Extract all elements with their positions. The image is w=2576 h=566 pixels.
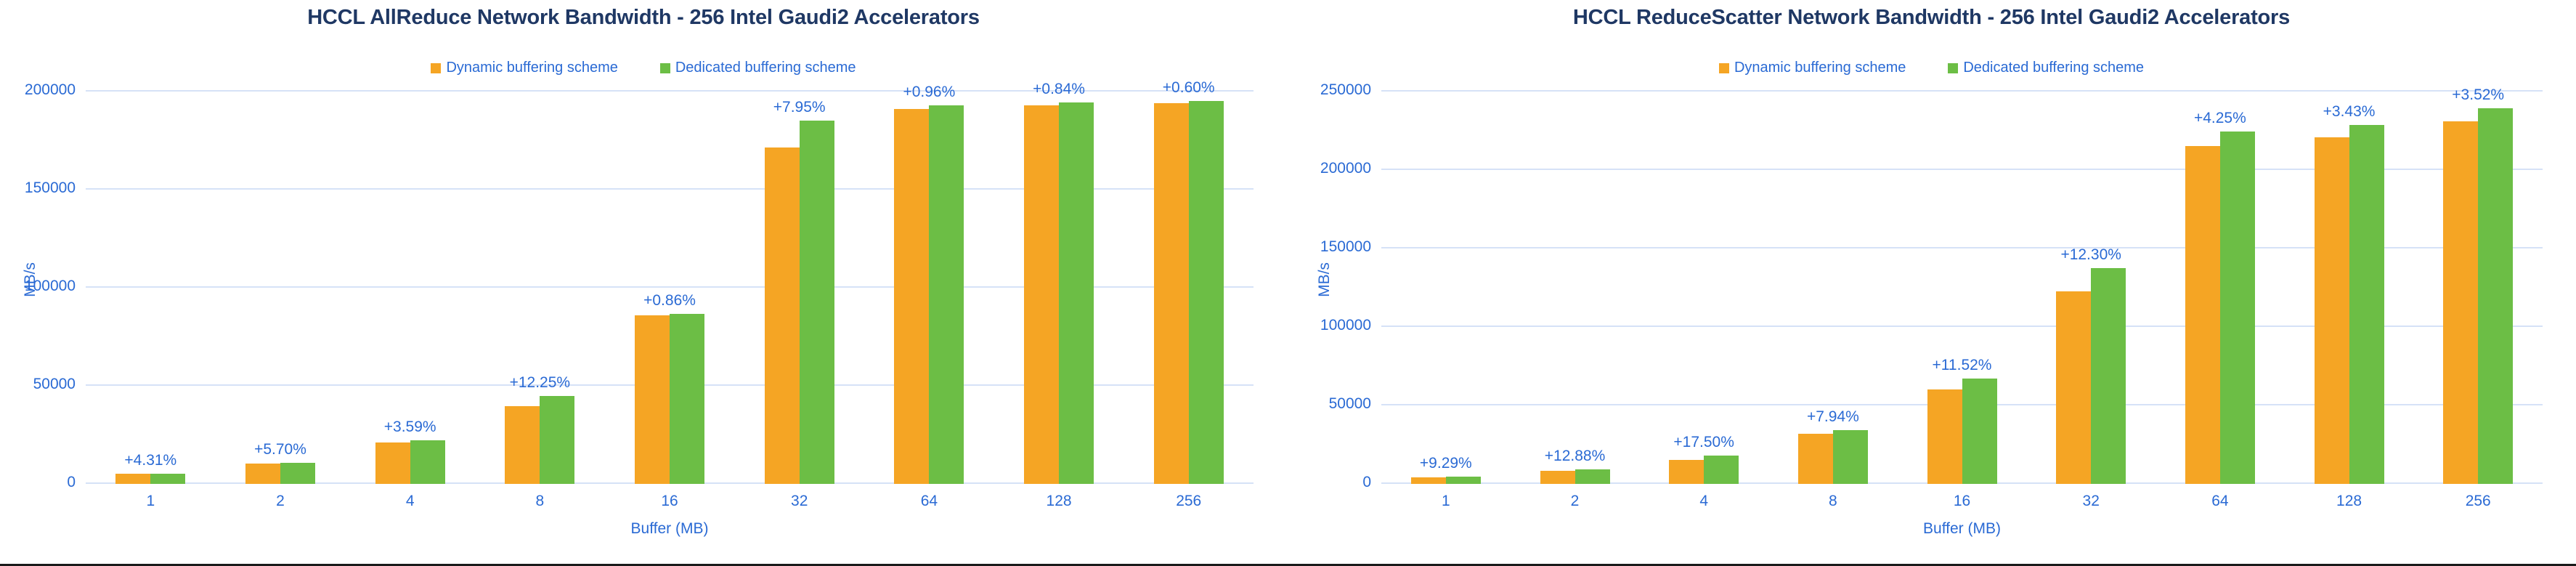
- square-marker-icon: [1948, 63, 1958, 73]
- y-axis-tick-label: 0: [1362, 474, 1371, 491]
- bar-groups-reducescatter: +9.29%+12.88%+17.50%+7.94%+11.52%+12.30%…: [1381, 92, 2543, 484]
- bar-dedicated-buffering[interactable]: [1446, 477, 1481, 484]
- bar-group: +5.70%: [216, 92, 346, 484]
- bar-dynamic-buffering[interactable]: [1540, 471, 1575, 484]
- bar-percentage-label: +12.25%: [510, 374, 571, 392]
- bar-group: +0.96%: [864, 92, 994, 484]
- bar-pair: [2285, 92, 2414, 484]
- bar-pair: [1898, 92, 2027, 484]
- chart-title-reducescatter: HCCL ReduceScatter Network Bandwidth - 2…: [1287, 6, 2576, 30]
- bar-dedicated-buffering[interactable]: [670, 314, 704, 484]
- bar-group: +0.86%: [605, 92, 735, 484]
- bar-percentage-label: +12.88%: [1545, 448, 1606, 465]
- figure-root: HCCL AllReduce Network Bandwidth - 256 I…: [0, 0, 2576, 566]
- bar-group: +4.25%: [2156, 92, 2285, 484]
- bar-dedicated-buffering[interactable]: [280, 463, 315, 484]
- y-axis-tick-label: 50000: [1329, 395, 1371, 413]
- bar-group: +0.60%: [1124, 92, 1254, 484]
- bar-percentage-label: +7.94%: [1807, 408, 1859, 426]
- legend-entry-dynamic[interactable]: Dynamic buffering scheme: [1719, 60, 1906, 76]
- x-axis-tick-label: 128: [994, 493, 1124, 510]
- bar-dedicated-buffering[interactable]: [1189, 101, 1224, 484]
- bar-group: +12.30%: [2026, 92, 2156, 484]
- bar-pair: [605, 92, 735, 484]
- bar-percentage-label: +7.95%: [773, 99, 826, 116]
- chart-panel-reducescatter: HCCL ReduceScatter Network Bandwidth - 2…: [1287, 0, 2576, 559]
- bar-dedicated-buffering[interactable]: [540, 396, 574, 484]
- bar-group: +7.95%: [734, 92, 864, 484]
- bar-pair: [86, 92, 216, 484]
- bar-percentage-label: +4.31%: [124, 452, 176, 469]
- bar-group: +3.52%: [2413, 92, 2543, 484]
- x-axis-tick-label: 128: [2285, 493, 2414, 510]
- plot-area-allreduce: 050000100000150000200000 +4.31%+5.70%+3.…: [86, 92, 1254, 484]
- legend-label-dedicated: Dedicated buffering scheme: [1963, 60, 2144, 76]
- y-axis-tick-label: 150000: [25, 179, 76, 197]
- bar-dynamic-buffering[interactable]: [1154, 103, 1189, 484]
- bar-pair: [216, 92, 346, 484]
- y-axis-tick-label: 150000: [1320, 238, 1371, 256]
- bar-dynamic-buffering[interactable]: [1024, 105, 1059, 484]
- bar-group: +17.50%: [1639, 92, 1768, 484]
- square-marker-icon: [660, 63, 670, 73]
- bar-dynamic-buffering[interactable]: [245, 464, 280, 484]
- bar-dedicated-buffering[interactable]: [2478, 108, 2513, 484]
- bar-dynamic-buffering[interactable]: [505, 406, 540, 484]
- y-axis-title-reducescatter: MB/s: [1316, 262, 1333, 297]
- bar-dedicated-buffering[interactable]: [1962, 379, 1997, 484]
- square-marker-icon: [431, 63, 441, 73]
- bar-percentage-label: +4.25%: [2194, 110, 2246, 127]
- bar-dedicated-buffering[interactable]: [800, 121, 834, 484]
- bar-dynamic-buffering[interactable]: [2443, 121, 2478, 484]
- bar-dynamic-buffering[interactable]: [2185, 146, 2220, 484]
- bar-dynamic-buffering[interactable]: [635, 315, 670, 484]
- legend-entry-dedicated[interactable]: Dedicated buffering scheme: [1948, 60, 2144, 76]
- bar-group: +9.29%: [1381, 92, 1511, 484]
- x-axis-tick-label: 64: [2156, 493, 2285, 510]
- bar-dynamic-buffering[interactable]: [375, 442, 410, 485]
- x-axis-title-allreduce: Buffer (MB): [86, 520, 1254, 538]
- x-axis-tick-label: 2: [216, 493, 346, 510]
- bar-percentage-label: +11.52%: [1933, 357, 1992, 374]
- bar-dynamic-buffering[interactable]: [1798, 434, 1833, 484]
- bar-dedicated-buffering[interactable]: [1059, 102, 1094, 484]
- bar-pair: [1511, 92, 1640, 484]
- legend-label-dedicated: Dedicated buffering scheme: [675, 60, 856, 76]
- bar-dynamic-buffering[interactable]: [115, 474, 150, 484]
- bar-percentage-label: +9.29%: [1420, 455, 1472, 472]
- bar-percentage-label: +0.86%: [643, 292, 696, 310]
- bar-group: +12.25%: [475, 92, 605, 484]
- bar-percentage-label: +5.70%: [254, 441, 306, 458]
- legend-allreduce: Dynamic buffering scheme Dedicated buffe…: [0, 60, 1287, 76]
- y-axis-tick-label: 0: [67, 474, 76, 491]
- chart-title-allreduce: HCCL AllReduce Network Bandwidth - 256 I…: [0, 6, 1287, 30]
- bar-dedicated-buffering[interactable]: [1833, 430, 1868, 484]
- x-axis-tick-label: 2: [1511, 493, 1640, 510]
- y-axis-tick-label: 100000: [1320, 317, 1371, 334]
- bar-percentage-label: +17.50%: [1673, 434, 1734, 451]
- chart-panel-allreduce: HCCL AllReduce Network Bandwidth - 256 I…: [0, 0, 1287, 559]
- bar-dedicated-buffering[interactable]: [929, 105, 964, 484]
- bar-groups-allreduce: +4.31%+5.70%+3.59%+12.25%+0.86%+7.95%+0.…: [86, 92, 1254, 484]
- y-axis-tick-label: 50000: [33, 376, 76, 393]
- bar-dedicated-buffering[interactable]: [2220, 132, 2255, 484]
- x-axis-tick-label: 256: [1124, 493, 1254, 510]
- bar-pair: [1124, 92, 1254, 484]
- bar-percentage-label: +0.60%: [1163, 79, 1215, 97]
- plot-area-reducescatter: 050000100000150000200000250000 +9.29%+12…: [1381, 92, 2543, 484]
- bar-group: +12.88%: [1511, 92, 1640, 484]
- x-axis-tick-label: 16: [1898, 493, 2027, 510]
- y-axis-tick-label: 100000: [25, 278, 76, 295]
- bar-pair: [475, 92, 605, 484]
- y-axis-tick-label: 200000: [1320, 160, 1371, 177]
- x-axis-tick-label: 16: [605, 493, 735, 510]
- bar-group: +3.43%: [2285, 92, 2414, 484]
- bar-percentage-label: +3.52%: [2452, 86, 2504, 104]
- bar-percentage-label: +0.96%: [903, 84, 955, 101]
- bar-group: +7.94%: [1768, 92, 1898, 484]
- bar-dynamic-buffering[interactable]: [894, 109, 929, 484]
- x-axis-tick-label: 8: [1768, 493, 1898, 510]
- bar-dynamic-buffering[interactable]: [765, 147, 800, 484]
- x-axis-tick-label: 64: [864, 493, 994, 510]
- x-axis-tick-label: 4: [345, 493, 475, 510]
- bar-dynamic-buffering[interactable]: [2056, 291, 2091, 484]
- bar-group: +11.52%: [1898, 92, 2027, 484]
- x-axis-title-reducescatter: Buffer (MB): [1381, 520, 2543, 538]
- y-axis-tick-label: 200000: [25, 81, 76, 99]
- bar-dedicated-buffering[interactable]: [410, 440, 445, 484]
- bar-percentage-label: +3.43%: [2323, 103, 2376, 121]
- bar-group: +4.31%: [86, 92, 216, 484]
- bar-dedicated-buffering[interactable]: [2091, 268, 2126, 484]
- x-axis-tick-label: 32: [2026, 493, 2156, 510]
- bar-dynamic-buffering[interactable]: [1669, 460, 1704, 484]
- chart-panels: HCCL AllReduce Network Bandwidth - 256 I…: [0, 0, 2576, 559]
- bar-pair: [2026, 92, 2156, 484]
- bar-pair: [2413, 92, 2543, 484]
- legend-entry-dynamic[interactable]: Dynamic buffering scheme: [431, 60, 617, 76]
- bar-pair: [994, 92, 1124, 484]
- bar-pair: [2156, 92, 2285, 484]
- bar-percentage-label: +12.30%: [2060, 246, 2121, 264]
- bar-dedicated-buffering[interactable]: [150, 474, 185, 484]
- bar-dedicated-buffering[interactable]: [1575, 469, 1610, 484]
- legend-label-dynamic: Dynamic buffering scheme: [1734, 60, 1906, 76]
- bar-pair: [734, 92, 864, 484]
- bar-dedicated-buffering[interactable]: [1704, 456, 1739, 484]
- x-axis-tick-label: 256: [2413, 493, 2543, 510]
- bar-pair: [864, 92, 994, 484]
- bar-dynamic-buffering[interactable]: [1411, 477, 1446, 484]
- x-axis-tick-label: 1: [86, 493, 216, 510]
- x-axis-ticks-allreduce: 1248163264128256: [86, 493, 1254, 510]
- bar-dynamic-buffering[interactable]: [1927, 389, 1962, 484]
- bar-group: +3.59%: [345, 92, 475, 484]
- x-axis-ticks-reducescatter: 1248163264128256: [1381, 493, 2543, 510]
- bar-percentage-label: +3.59%: [384, 419, 436, 436]
- x-axis-tick-label: 1: [1381, 493, 1511, 510]
- bar-group: +0.84%: [994, 92, 1124, 484]
- bar-pair: [1381, 92, 1511, 484]
- x-axis-tick-label: 8: [475, 493, 605, 510]
- legend-reducescatter: Dynamic buffering scheme Dedicated buffe…: [1287, 60, 2576, 76]
- x-axis-tick-label: 4: [1639, 493, 1768, 510]
- y-axis-tick-label: 250000: [1320, 81, 1371, 99]
- bar-dynamic-buffering[interactable]: [2315, 137, 2349, 484]
- x-axis-tick-label: 32: [734, 493, 864, 510]
- bar-dedicated-buffering[interactable]: [2349, 125, 2384, 484]
- bar-percentage-label: +0.84%: [1033, 81, 1085, 98]
- legend-label-dynamic: Dynamic buffering scheme: [446, 60, 617, 76]
- bar-pair: [1639, 92, 1768, 484]
- legend-entry-dedicated[interactable]: Dedicated buffering scheme: [660, 60, 856, 76]
- square-marker-icon: [1719, 63, 1729, 73]
